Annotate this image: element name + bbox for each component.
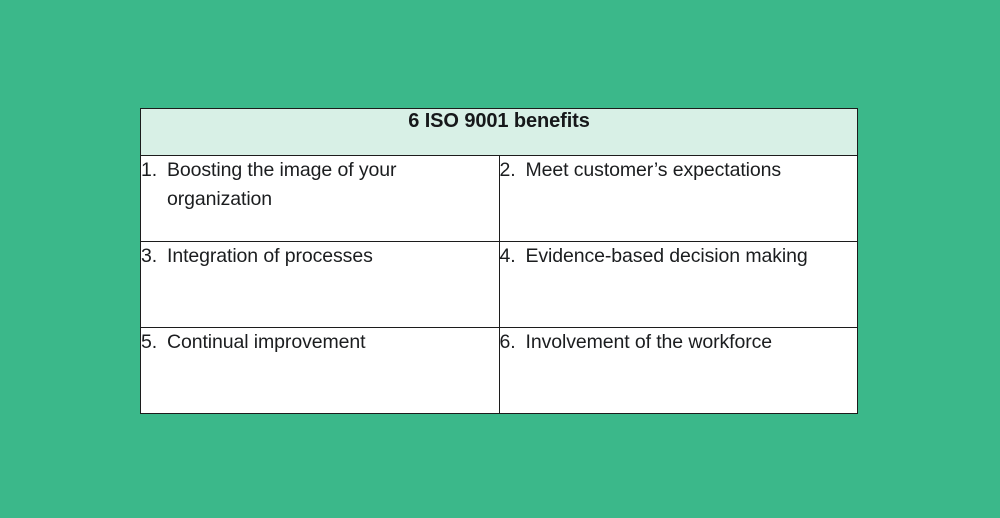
benefit-cell-4: 4. Evidence-based decision making — [499, 242, 858, 328]
table-row: 3. Integration of processes 4. Evidence-… — [141, 242, 858, 328]
list-item: 3. Integration of processes — [141, 242, 499, 271]
table-row: 5. Continual improvement 6. Involvement … — [141, 328, 858, 414]
benefit-cell-6: 6. Involvement of the workforce — [499, 328, 858, 414]
list-item: 5. Continual improvement — [141, 328, 499, 357]
list-item-label: Evidence-based decision making — [526, 242, 858, 271]
list-item-label: Integration of processes — [167, 242, 499, 271]
list-item-label: Continual improvement — [167, 328, 499, 357]
table-header: 6 ISO 9001 benefits — [141, 109, 858, 156]
table-header-row: 6 ISO 9001 benefits — [141, 109, 858, 156]
table-title-cell: 6 ISO 9001 benefits — [141, 109, 858, 156]
table-title: 6 ISO 9001 benefits — [408, 110, 590, 132]
list-item-label: Involvement of the workforce — [526, 328, 858, 357]
list-item-label: Boosting the image of your organization — [167, 156, 499, 214]
table-body: 1. Boosting the image of your organizati… — [141, 156, 858, 414]
list-item: 6. Involvement of the workforce — [500, 328, 858, 357]
benefit-cell-5: 5. Continual improvement — [141, 328, 500, 414]
list-item-number: 4. — [500, 242, 526, 271]
list-item: 4. Evidence-based decision making — [500, 242, 858, 271]
benefit-cell-3: 3. Integration of processes — [141, 242, 500, 328]
page-background: 6 ISO 9001 benefits 1. Boosting the imag… — [0, 0, 1000, 518]
table-row: 1. Boosting the image of your organizati… — [141, 156, 858, 242]
list-item-number: 2. — [500, 156, 526, 185]
list-item-number: 1. — [141, 156, 167, 185]
list-item-number: 6. — [500, 328, 526, 357]
benefit-cell-2: 2. Meet customer’s expectations — [499, 156, 858, 242]
list-item-number: 5. — [141, 328, 167, 357]
list-item: 2. Meet customer’s expectations — [500, 156, 858, 185]
benefit-cell-1: 1. Boosting the image of your organizati… — [141, 156, 500, 242]
list-item-label: Meet customer’s expectations — [526, 156, 858, 185]
list-item-number: 3. — [141, 242, 167, 271]
benefits-table: 6 ISO 9001 benefits 1. Boosting the imag… — [140, 108, 858, 414]
list-item: 1. Boosting the image of your organizati… — [141, 156, 499, 214]
